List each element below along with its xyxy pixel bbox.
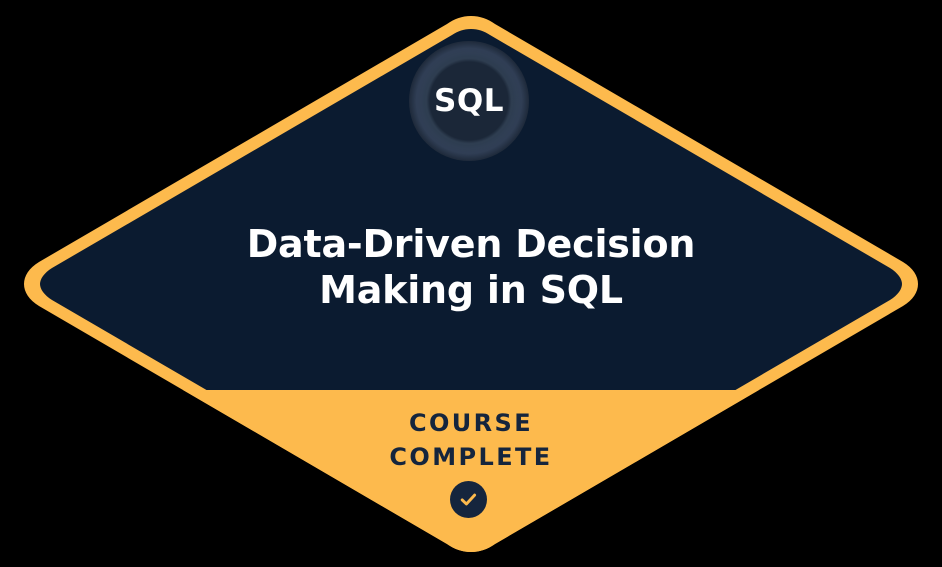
status-band xyxy=(0,390,942,567)
badge-canvas: SQL Data-Driven Decision Making in SQL C… xyxy=(0,0,942,567)
diamond-navy-region xyxy=(0,29,942,567)
diamond-shape-svg xyxy=(0,0,942,567)
diamond-badge xyxy=(0,0,942,567)
